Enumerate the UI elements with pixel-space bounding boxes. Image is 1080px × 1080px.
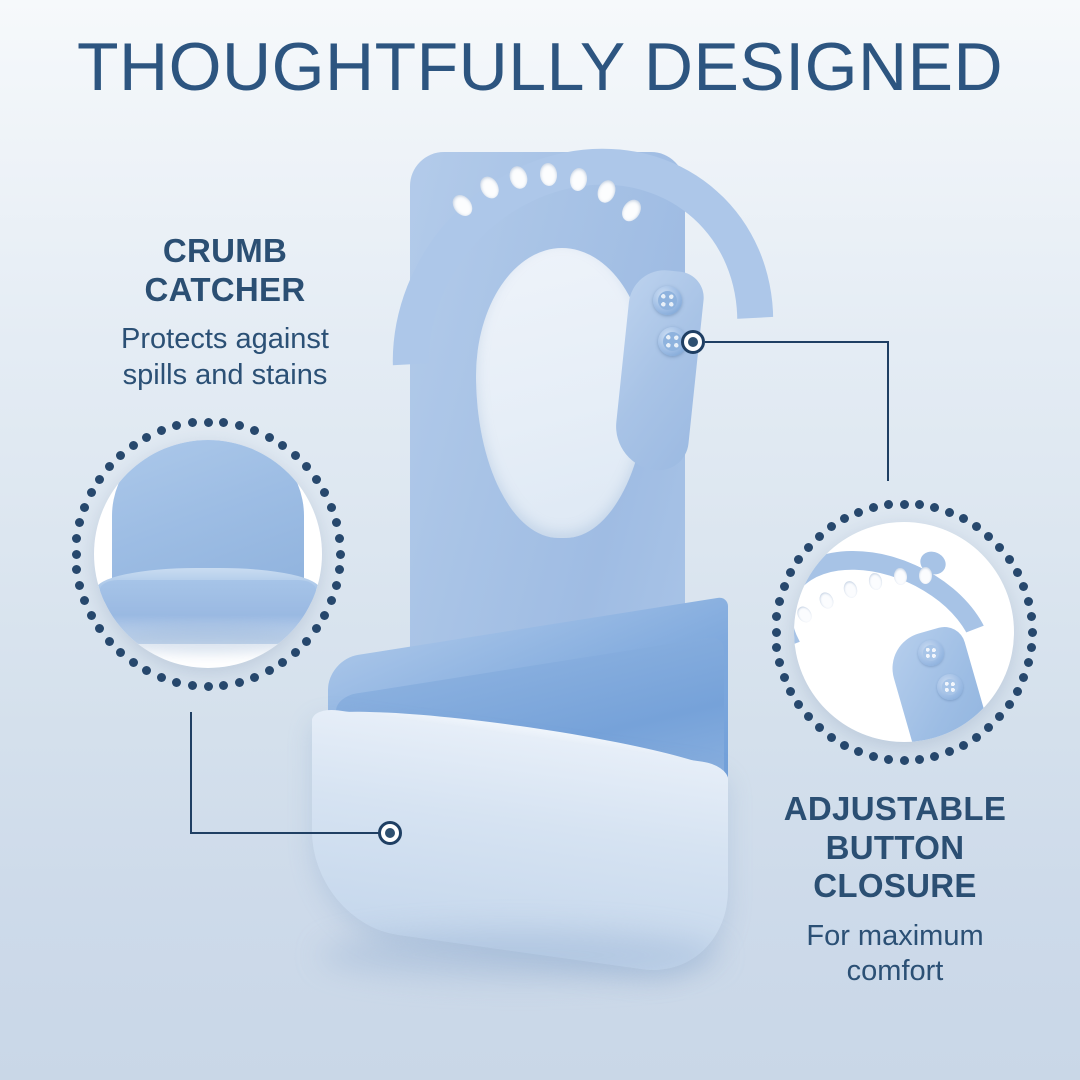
inset-button-1 bbox=[918, 640, 944, 666]
button-closure-marker[interactable] bbox=[681, 330, 705, 354]
inset-strap-hole-6 bbox=[919, 567, 932, 584]
product-drop-shadow bbox=[320, 930, 720, 980]
crumb-catcher-leader-horizontal bbox=[190, 832, 380, 834]
crumb-catcher-inset bbox=[72, 418, 344, 690]
page-title: THOUGHTFULLY DESIGNED bbox=[0, 32, 1080, 103]
inset-pocket-shadow bbox=[110, 628, 306, 654]
button-closure-leader-horizontal bbox=[705, 341, 889, 343]
crumb-catcher-leader-vertical bbox=[190, 712, 192, 834]
crumb-catcher-inset-photo bbox=[94, 440, 322, 668]
inset-button-2 bbox=[937, 674, 963, 700]
infographic-canvas: THOUGHTFULLY DESIGNED CRUMB CATCHER bbox=[0, 0, 1080, 1080]
crumb-catcher-marker[interactable] bbox=[378, 821, 402, 845]
button-closure-inset-photo bbox=[794, 522, 1014, 742]
bib-button-1 bbox=[653, 286, 682, 315]
button-closure-leader-vertical bbox=[887, 341, 889, 481]
button-closure-inset bbox=[772, 500, 1036, 764]
